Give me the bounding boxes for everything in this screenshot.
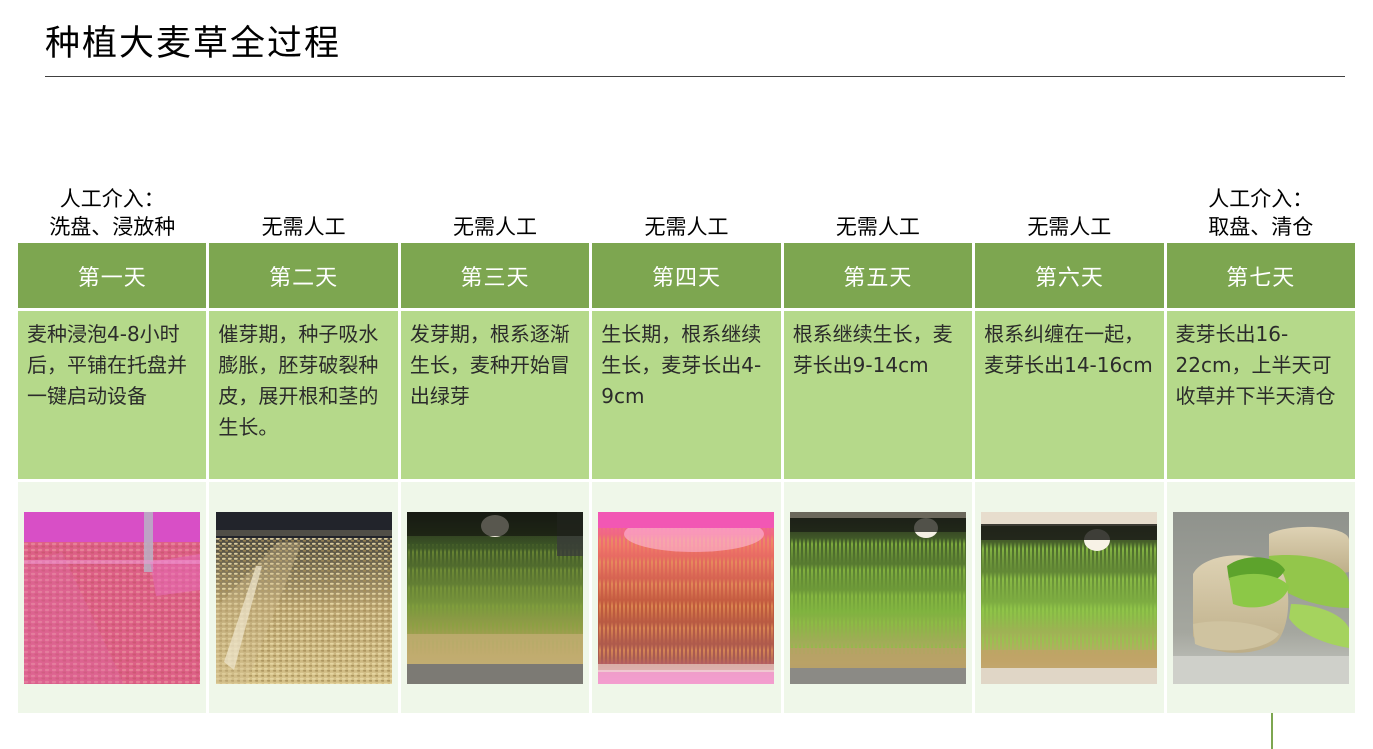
photo-cell-day-6 [975, 482, 1163, 713]
day-header-day-3: 第三天 [401, 243, 589, 308]
table-column-day-5: 无需人工 第五天 根系继续生长，麦芽长出9-14cm [784, 160, 972, 713]
photo-cell-day-1 [18, 482, 206, 713]
day7-harvested-grass-mat-rolled-image [1173, 512, 1349, 684]
bottom-accent-tick [1271, 713, 1273, 749]
manual-intervention-label-day-3: 无需人工 [401, 160, 589, 243]
table-column-day-4: 无需人工 第四天 生长期，根系继续生长，麦芽长出4-9cm [592, 160, 780, 713]
page-title: 种植大麦草全过程 [45, 14, 1345, 74]
manual-intervention-label-day-6: 无需人工 [975, 160, 1163, 243]
day-header-day-2: 第二天 [209, 243, 397, 308]
day6-dense-grass-mat-image [981, 512, 1157, 684]
table-column-day-7: 人工介入： 取盘、清仓 第七天 麦芽长出16-22cm，上半天可收草并下半天清仓 [1167, 160, 1355, 713]
day2-swollen-seeds-in-tray-image [216, 512, 392, 684]
day-description-day-4: 生长期，根系继续生长，麦芽长出4-9cm [592, 311, 780, 479]
day-description-day-6: 根系纠缠在一起，麦芽长出14-16cm [975, 311, 1163, 479]
slide-root: 种植大麦草全过程 人工介入： 洗盘、浸放种 第一天 麦种浸泡4-8小时后，平铺在… [0, 0, 1373, 749]
day4-sprouts-under-pink-grow-light-image [598, 512, 774, 684]
manual-intervention-label-day-7: 人工介入： 取盘、清仓 [1167, 160, 1355, 243]
day-header-day-5: 第五天 [784, 243, 972, 308]
photo-cell-day-4 [592, 482, 780, 713]
table-column-day-3: 无需人工 第三天 发芽期，根系逐渐生长，麦种开始冒出绿芽 [401, 160, 589, 713]
table-column-day-6: 无需人工 第六天 根系纠缠在一起，麦芽长出14-16cm [975, 160, 1163, 713]
day-header-day-1: 第一天 [18, 243, 206, 308]
growth-process-table: 人工介入： 洗盘、浸放种 第一天 麦种浸泡4-8小时后，平铺在托盘并一键启动设备 [18, 160, 1355, 713]
manual-intervention-label-day-4: 无需人工 [592, 160, 780, 243]
day-description-day-7: 麦芽长出16-22cm，上半天可收草并下半天清仓 [1167, 311, 1355, 479]
day-header-day-4: 第四天 [592, 243, 780, 308]
photo-cell-day-5 [784, 482, 972, 713]
title-block: 种植大麦草全过程 [45, 14, 1345, 78]
manual-intervention-label-day-2: 无需人工 [209, 160, 397, 243]
day-description-day-3: 发芽期，根系逐渐生长，麦种开始冒出绿芽 [401, 311, 589, 479]
day-description-day-1: 麦种浸泡4-8小时后，平铺在托盘并一键启动设备 [18, 311, 206, 479]
photo-cell-day-2 [209, 482, 397, 713]
manual-intervention-label-day-5: 无需人工 [784, 160, 972, 243]
table-column-day-1: 人工介入： 洗盘、浸放种 第一天 麦种浸泡4-8小时后，平铺在托盘并一键启动设备 [18, 160, 206, 713]
day5-taller-green-grass-image [790, 512, 966, 684]
photo-cell-day-3 [401, 482, 589, 713]
table-column-day-2: 无需人工 第二天 催芽期，种子吸水膨胀，胚芽破裂种皮，展开根和茎的生长。 [209, 160, 397, 713]
photo-cell-day-7 [1167, 482, 1355, 713]
day-description-day-2: 催芽期，种子吸水膨胀，胚芽破裂种皮，展开根和茎的生长。 [209, 311, 397, 479]
day-header-day-6: 第六天 [975, 243, 1163, 308]
day-header-day-7: 第七天 [1167, 243, 1355, 308]
manual-intervention-label-day-1: 人工介入： 洗盘、浸放种 [18, 160, 206, 243]
day-description-day-5: 根系继续生长，麦芽长出9-14cm [784, 311, 972, 479]
day1-seeds-under-pink-grow-light-image [24, 512, 200, 684]
day3-green-sprouts-emerging-image [407, 512, 583, 684]
title-divider [45, 76, 1345, 77]
